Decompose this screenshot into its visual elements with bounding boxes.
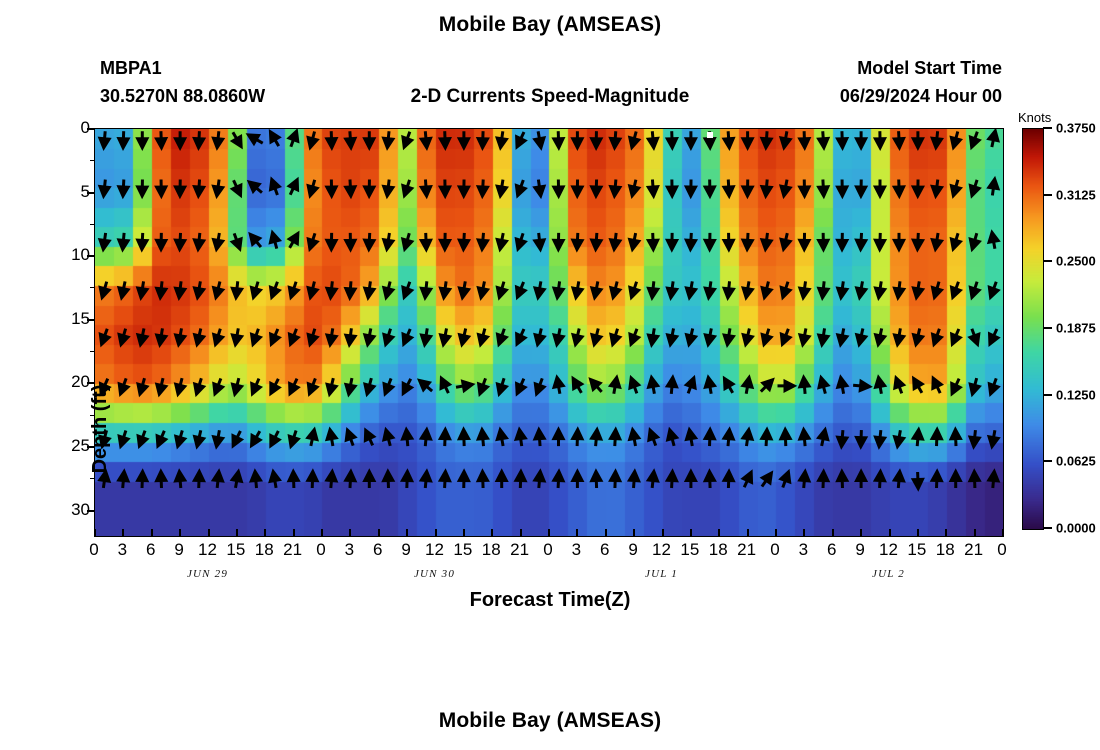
x-axis-title: Forecast Time(Z) — [0, 589, 1100, 612]
x-axis-tick-label: 0 — [770, 540, 779, 560]
x-axis-tick — [576, 529, 578, 537]
x-axis-tick-label: 6 — [373, 540, 382, 560]
x-axis-tick — [860, 529, 862, 537]
x-axis-tick — [406, 529, 408, 537]
colorbar-tick — [1043, 394, 1052, 396]
x-axis-tick — [718, 529, 720, 537]
colorbar-tick-label: 0.1250 — [1056, 387, 1096, 402]
x-axis-tick — [917, 529, 919, 537]
x-axis-tick — [747, 529, 749, 537]
x-axis-tick — [435, 529, 437, 537]
y-axis-tick-label: 25 — [71, 436, 90, 456]
x-axis-tick-label: 21 — [737, 540, 756, 560]
x-axis-tick — [463, 529, 465, 537]
y-axis-minor-tick — [90, 478, 95, 479]
x-axis-tick — [803, 529, 805, 537]
x-axis-tick-label: 18 — [709, 540, 728, 560]
colorbar-tick-label: 0.0625 — [1056, 454, 1096, 469]
x-axis-tick-label: 3 — [799, 540, 808, 560]
y-axis-tick-label: 0 — [81, 118, 90, 138]
y-axis-tick-label: 15 — [71, 309, 90, 329]
y-axis-tick-label: 5 — [81, 182, 90, 202]
x-axis-day-label: JUN 30 — [414, 568, 455, 580]
colorbar-tick-label: 0.2500 — [1056, 254, 1096, 269]
x-axis-tick-label: 3 — [118, 540, 127, 560]
colorbar-title: Knots — [1018, 110, 1051, 125]
x-axis-tick — [605, 529, 607, 537]
x-axis-tick-label: 6 — [600, 540, 609, 560]
x-axis-tick — [775, 529, 777, 537]
x-axis-tick — [889, 529, 891, 537]
footer-title: Mobile Bay (AMSEAS) — [0, 709, 1100, 733]
x-axis-tick-label: 18 — [482, 540, 501, 560]
x-axis-tick — [151, 529, 153, 537]
x-axis-tick — [321, 529, 323, 537]
x-axis-tick — [832, 529, 834, 537]
x-axis-tick-label: 21 — [283, 540, 302, 560]
y-axis-minor-tick — [90, 224, 95, 225]
render-gap-artifact — [707, 132, 713, 138]
x-axis-tick-label: 15 — [453, 540, 472, 560]
colorbar-tick-label: 0.3750 — [1056, 121, 1096, 136]
x-axis-day-label: JUL 2 — [872, 568, 905, 580]
y-axis-tick-label: 20 — [71, 372, 90, 392]
speed-magnitude-heatmap — [95, 129, 1003, 536]
station-id-label: MBPA1 — [100, 58, 162, 79]
x-axis-tick-label: 0 — [316, 540, 325, 560]
y-axis-minor-tick — [90, 351, 95, 352]
x-axis-tick-label: 9 — [174, 540, 183, 560]
x-axis-tick-label: 15 — [226, 540, 245, 560]
x-axis-tick-label: 21 — [510, 540, 529, 560]
x-axis-tick-label: 21 — [964, 540, 983, 560]
x-axis-day-label: JUL 1 — [645, 568, 678, 580]
x-axis-tick-label: 0 — [89, 540, 98, 560]
y-axis-tick-label: 10 — [71, 245, 90, 265]
colorbar-tick-label: 0.3125 — [1056, 187, 1096, 202]
x-axis-tick-label: 0 — [997, 540, 1006, 560]
x-axis-tick-label: 3 — [572, 540, 581, 560]
x-axis-day-label: JUN 29 — [187, 568, 228, 580]
model-start-time-label: Model Start Time — [857, 58, 1002, 79]
x-axis-tick-label: 0 — [543, 540, 552, 560]
x-axis-tick — [94, 529, 96, 537]
x-axis-tick-label: 9 — [401, 540, 410, 560]
x-axis-tick-label: 6 — [146, 540, 155, 560]
colorbar-gradient — [1023, 129, 1043, 529]
colorbar-tick — [1043, 527, 1052, 529]
x-axis-tick — [974, 529, 976, 537]
x-axis-tick — [548, 529, 550, 537]
colorbar-tick — [1043, 260, 1052, 262]
x-axis-tick-label: 3 — [345, 540, 354, 560]
x-axis-tick — [122, 529, 124, 537]
x-axis-tick-label: 6 — [827, 540, 836, 560]
x-axis-tick — [293, 529, 295, 537]
colorbar-tick — [1043, 127, 1052, 129]
x-axis-tick — [236, 529, 238, 537]
colorbar-tick — [1043, 194, 1052, 196]
y-axis-minor-tick — [90, 160, 95, 161]
x-axis-tick-label: 15 — [680, 540, 699, 560]
x-axis-tick — [208, 529, 210, 537]
model-start-time-value: 06/29/2024 Hour 00 — [840, 86, 1002, 107]
heatmap-plot-area: Depth (ft) — [94, 128, 1004, 537]
x-axis-tick — [349, 529, 351, 537]
x-axis-tick-label: 18 — [936, 540, 955, 560]
x-axis-tick-label: 12 — [425, 540, 444, 560]
x-axis-tick — [491, 529, 493, 537]
colorbar — [1022, 128, 1044, 530]
x-axis-tick — [690, 529, 692, 537]
x-axis-tick-label: 12 — [879, 540, 898, 560]
x-axis-tick — [520, 529, 522, 537]
colorbar-tick-label: 0.1875 — [1056, 321, 1096, 336]
y-axis-minor-tick — [90, 287, 95, 288]
colorbar-tick — [1043, 460, 1052, 462]
x-axis-tick — [378, 529, 380, 537]
x-axis-tick — [264, 529, 266, 537]
y-axis-tick-label: 30 — [71, 500, 90, 520]
x-axis-tick-label: 18 — [255, 540, 274, 560]
x-axis-tick-label: 12 — [652, 540, 671, 560]
x-axis-tick — [633, 529, 635, 537]
y-axis-minor-tick — [90, 415, 95, 416]
x-axis-tick — [662, 529, 664, 537]
x-axis-tick-label: 12 — [198, 540, 217, 560]
x-axis-tick — [945, 529, 947, 537]
x-axis-tick-label: 15 — [907, 540, 926, 560]
page-title: Mobile Bay (AMSEAS) — [0, 13, 1100, 37]
x-axis-tick-label: 9 — [855, 540, 864, 560]
colorbar-tick — [1043, 327, 1052, 329]
y-axis-title: Depth (ft) — [89, 385, 112, 474]
x-axis-tick-label: 9 — [628, 540, 637, 560]
colorbar-tick-label: 0.0000 — [1056, 521, 1096, 536]
x-axis-tick — [1002, 529, 1004, 537]
x-axis-tick — [179, 529, 181, 537]
